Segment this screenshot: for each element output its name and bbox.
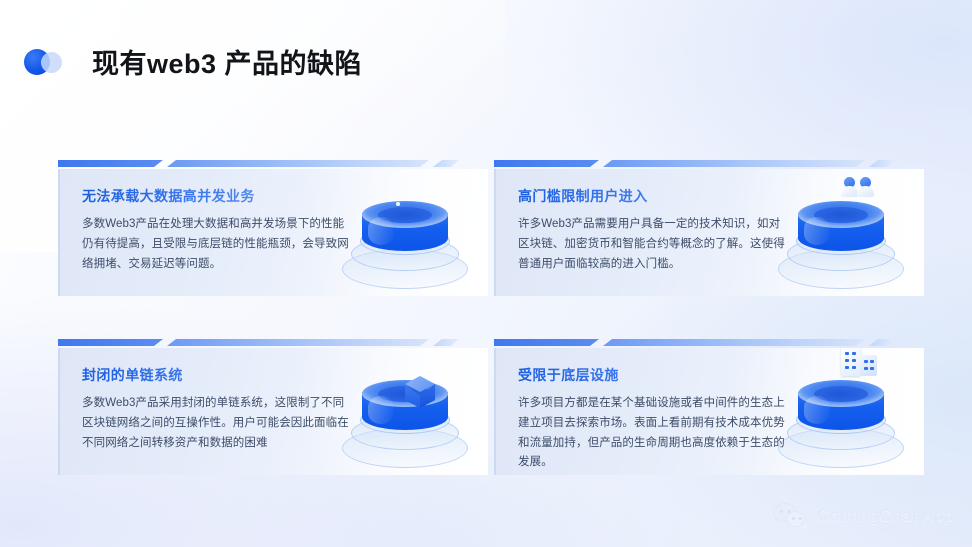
window-dot	[870, 360, 874, 363]
watermark-label: ComingChat App	[817, 506, 954, 526]
wechat-eye	[792, 517, 795, 520]
card-closed-chain[interactable]: 封闭的单链系统 多数Web3产品采用封闭的单链系统，这限制了不同区块链网络之间的…	[58, 339, 488, 475]
card-top-bar	[494, 339, 924, 346]
card-body: 受限于底层设施 许多项目方都是在某个基础设施或者中间件的生态上建立项目去探索市场…	[494, 348, 924, 475]
top-bar-segment-2	[167, 339, 429, 346]
database-building-icon	[776, 354, 906, 475]
cylinder-highlight	[804, 396, 830, 424]
top-bar-segment-3	[433, 160, 459, 167]
wechat-tail-small	[802, 523, 807, 530]
card-text-block: 封闭的单链系统 多数Web3产品采用封闭的单链系统，这限制了不同区块链网络之间的…	[82, 365, 350, 453]
bullet-secondary-dot	[41, 52, 62, 73]
page-title: 现有web3 产品的缺陷	[92, 42, 362, 81]
cylinder-highlight	[368, 217, 394, 245]
card-description: 多数Web3产品采用封闭的单链系统，这限制了不同区块链网络之间的互操作性。用户可…	[82, 394, 350, 453]
database-server-icon	[340, 175, 470, 296]
top-bar-segment-1	[58, 160, 163, 167]
card-top-bar	[494, 160, 924, 167]
top-bar-segment-3	[869, 160, 895, 167]
card-description: 许多Web3产品需要用户具备一定的技术知识，如对区块链、加密货币和智能合约等概念…	[518, 215, 786, 274]
top-bar-segment-1	[494, 160, 599, 167]
card-title: 封闭的单链系统	[82, 365, 350, 385]
database-cylinder	[798, 380, 884, 436]
top-bar-segment-1	[58, 339, 163, 346]
database-cylinder	[798, 201, 884, 257]
window-dot	[852, 352, 856, 355]
database-cylinder	[362, 201, 448, 257]
card-data-throughput[interactable]: 无法承载大数据高并发业务 多数Web3产品在处理大数据和高并发场景下的性能仍有待…	[58, 160, 488, 296]
page-header: 现有web3 产品的缺陷	[24, 42, 362, 81]
card-text-block: 无法承载大数据高并发业务 多数Web3产品在处理大数据和高并发场景下的性能仍有待…	[82, 186, 350, 274]
card-infra-limited[interactable]: 受限于底层设施 许多项目方都是在某个基础设施或者中间件的生态上建立项目去探索市场…	[494, 339, 924, 475]
user-figure-left	[841, 177, 858, 197]
card-text-block: 高门槛限制用户进入 许多Web3产品需要用户具备一定的技术知识，如对区块链、加密…	[518, 186, 786, 274]
wechat-eye	[799, 517, 802, 520]
wechat-tail-large	[775, 519, 780, 527]
database-cylinder	[362, 380, 448, 436]
window-dot	[852, 366, 856, 369]
title-bullet-icon	[24, 49, 70, 75]
card-title: 受限于底层设施	[518, 365, 786, 385]
card-title: 高门槛限制用户进入	[518, 186, 786, 206]
window-dot	[870, 367, 874, 370]
card-text-block: 受限于底层设施 许多项目方都是在某个基础设施或者中间件的生态上建立项目去探索市场…	[518, 365, 786, 473]
top-bar-segment-3	[869, 339, 895, 346]
window-dot	[845, 352, 849, 355]
card-body: 高门槛限制用户进入 许多Web3产品需要用户具备一定的技术知识，如对区块链、加密…	[494, 169, 924, 296]
top-bar-segment-2	[603, 339, 865, 346]
top-bar-segment-3	[433, 339, 459, 346]
building-short	[860, 355, 877, 376]
window-dot	[845, 359, 849, 362]
window-dot	[864, 360, 868, 363]
top-bar-segment-1	[494, 339, 599, 346]
database-cube-icon	[340, 354, 470, 475]
card-body: 无法承载大数据高并发业务 多数Web3产品在处理大数据和高并发场景下的性能仍有待…	[58, 169, 488, 296]
building-tall	[841, 348, 861, 376]
card-top-bar	[58, 160, 488, 167]
user-body	[841, 186, 858, 197]
top-bar-segment-2	[167, 160, 429, 167]
card-title: 无法承载大数据高并发业务	[82, 186, 350, 206]
window-dot	[852, 359, 856, 362]
cards-grid: 无法承载大数据高并发业务 多数Web3产品在处理大数据和高并发场景下的性能仍有待…	[58, 160, 924, 475]
top-bar-segment-2	[603, 160, 865, 167]
card-description: 多数Web3产品在处理大数据和高并发场景下的性能仍有待提高，且受限与底层链的性能…	[82, 215, 350, 274]
watermark: ComingChat App	[773, 503, 954, 529]
window-dot	[864, 367, 868, 370]
card-top-bar	[58, 339, 488, 346]
card-body: 封闭的单链系统 多数Web3产品采用封闭的单链系统，这限制了不同区块链网络之间的…	[58, 348, 488, 475]
user-figure-right	[857, 177, 874, 197]
wechat-icon	[773, 503, 807, 529]
card-description: 许多项目方都是在某个基础设施或者中间件的生态上建立项目去探索市场。表面上看前期有…	[518, 394, 786, 473]
database-users-icon	[776, 175, 906, 296]
user-body	[857, 186, 874, 197]
window-dot	[845, 366, 849, 369]
wechat-eye	[780, 510, 783, 513]
slide-canvas: 现有web3 产品的缺陷 无法承载大数据高并发业务 多数Web3产品在处理大数据…	[0, 0, 972, 547]
cylinder-highlight	[804, 217, 830, 245]
cylinder-highlight	[368, 396, 394, 424]
card-high-barrier[interactable]: 高门槛限制用户进入 许多Web3产品需要用户具备一定的技术知识，如对区块链、加密…	[494, 160, 924, 296]
